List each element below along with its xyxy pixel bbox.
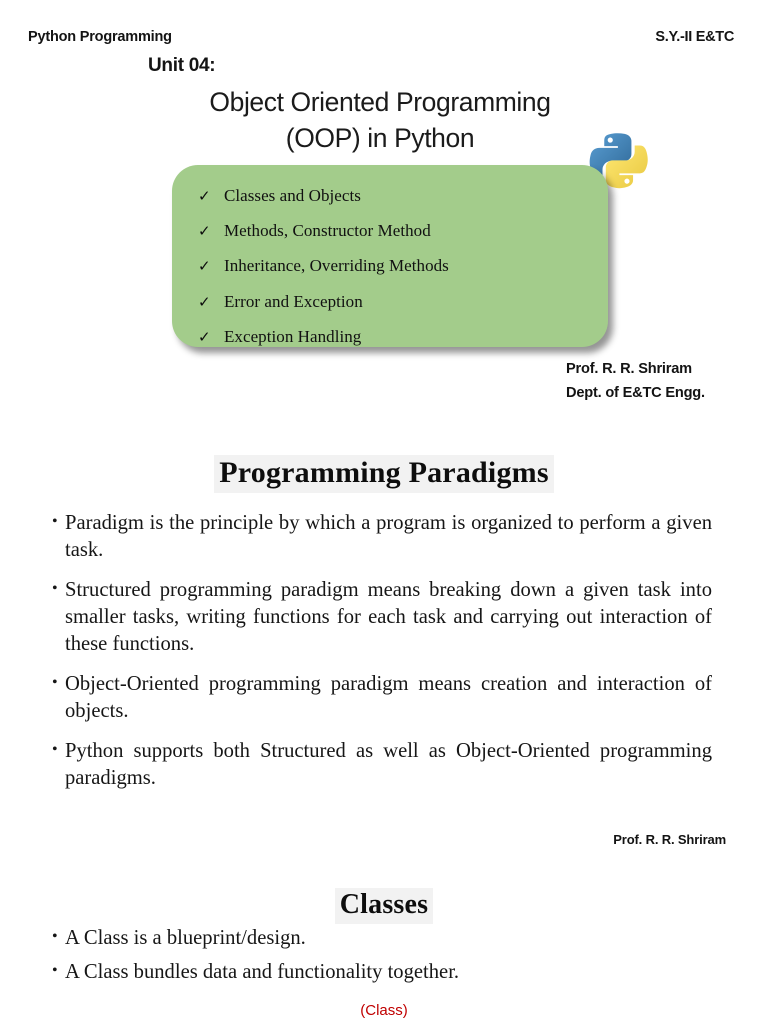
topic-label: Methods, Constructor Method [224,214,431,248]
bullet-icon: • [52,959,65,983]
paradigms-heading-wrap: Programming Paradigms [0,455,768,493]
list-item-text: Python supports both Structured as well … [65,738,712,792]
unit-label: Unit 04: [148,55,215,77]
classes-bullet-list: • A Class is a blueprint/design. • A Cla… [52,925,712,993]
list-item-text: Structured programming paradigm means br… [65,577,712,658]
list-item: • Object-Oriented programming paradigm m… [52,671,712,725]
list-item-text: Paradigm is the principle by which a pro… [65,510,712,564]
class-caption: (Class) [0,1002,768,1019]
section-heading-paradigms: Programming Paradigms [214,455,553,493]
topic-item: ✓ Methods, Constructor Method [198,214,598,249]
list-item-text: A Class is a blueprint/design. [65,925,712,952]
bullet-icon: • [52,738,65,762]
list-item: • A Class bundles data and functionality… [52,959,712,986]
list-item-text: Object-Oriented programming paradigm mea… [65,671,712,725]
page-title-line-1: Object Oriented Programming [120,84,640,120]
topic-item: ✓ Error and Exception [198,285,598,320]
footer-credit: Prof. R. R. Shriram [613,832,726,847]
presenter-block: Prof. R. R. Shriram Dept. of E&TC Engg. [566,357,705,405]
paradigms-bullet-list: • Paradigm is the principle by which a p… [52,510,712,805]
topic-label: Inheritance, Overriding Methods [224,249,449,283]
presenter-department: Dept. of E&TC Engg. [566,381,705,405]
check-icon: ✓ [198,215,224,249]
topics-box: ✓ Classes and Objects ✓ Methods, Constru… [172,165,608,347]
bullet-icon: • [52,671,65,695]
bullet-icon: • [52,925,65,949]
check-icon: ✓ [198,321,224,355]
topic-label: Error and Exception [224,285,363,319]
list-item: • Python supports both Structured as wel… [52,738,712,792]
topic-item: ✓ Classes and Objects [198,179,598,214]
check-icon: ✓ [198,180,224,214]
list-item: • Structured programming paradigm means … [52,577,712,658]
list-item-text: A Class bundles data and functionality t… [65,959,712,986]
topic-label: Exception Handling [224,320,361,354]
section-heading-classes: Classes [335,888,434,924]
check-icon: ✓ [198,250,224,284]
presenter-name: Prof. R. R. Shriram [566,357,705,381]
classes-heading-wrap: Classes [0,888,768,924]
topic-label: Classes and Objects [224,179,361,213]
list-item: • Paradigm is the principle by which a p… [52,510,712,564]
topic-item: ✓ Inheritance, Overriding Methods [198,249,598,284]
list-item: • A Class is a blueprint/design. [52,925,712,952]
check-icon: ✓ [198,286,224,320]
topic-item: ✓ Exception Handling [198,320,598,355]
bullet-icon: • [52,577,65,601]
page-title: Object Oriented Programming (OOP) in Pyt… [120,84,640,156]
page-title-line-2: (OOP) in Python [120,120,640,156]
course-title: Python Programming [28,29,172,45]
bullet-icon: • [52,510,65,534]
topics-list: ✓ Classes and Objects ✓ Methods, Constru… [198,179,598,355]
class-code: S.Y.-II E&TC [655,29,734,45]
